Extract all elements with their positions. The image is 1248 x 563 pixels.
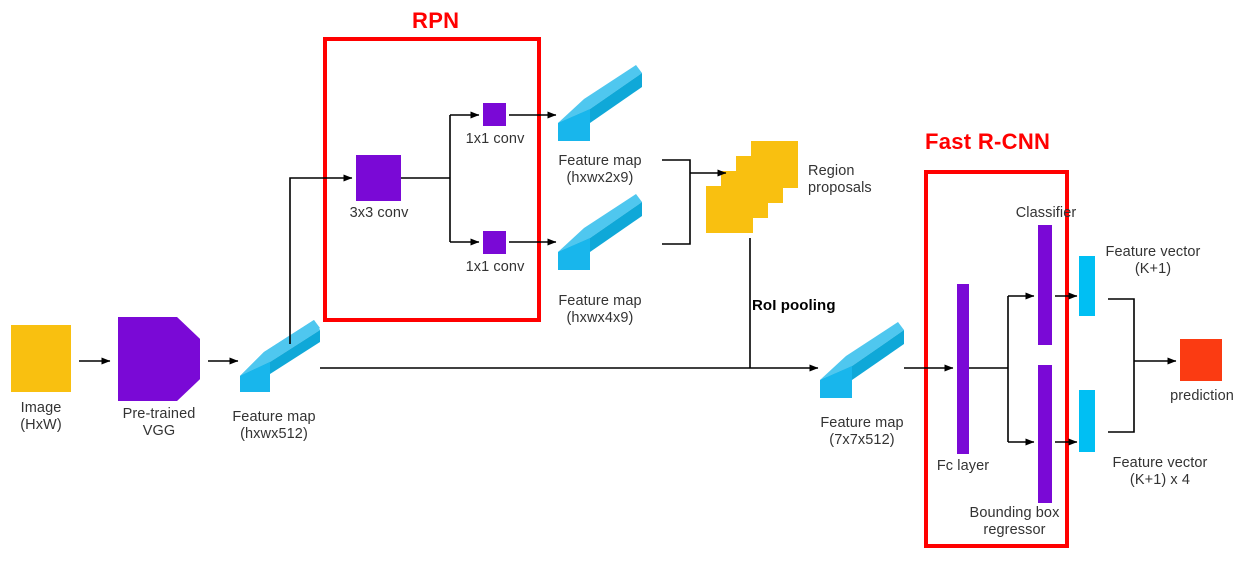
region-proposals-sublabel: proposals [808, 180, 908, 197]
proposal-square [706, 186, 753, 233]
fv-cls-label: Feature vector [1098, 244, 1208, 261]
region-proposals-label: Region [808, 163, 908, 180]
bracket-output-merge [1108, 299, 1134, 432]
fast-rcnn-group-title: Fast R-CNN [925, 129, 1050, 155]
fm-backbone-sublabel: (hxwx512) [218, 426, 330, 443]
cuboid-shape [240, 320, 320, 400]
classifier-node[interactable] [1038, 225, 1052, 345]
fm-backbone-label: Feature map [218, 409, 330, 426]
cuboid-shape [558, 65, 642, 147]
fm-roi-label: Feature map [806, 415, 918, 432]
image-sublabel: (HxW) [0, 417, 82, 434]
cuboid-shape [558, 194, 642, 276]
region-proposals-node[interactable] [706, 141, 798, 237]
fc-layer-label: Fc layer [921, 458, 1005, 475]
feature-map-roi-node[interactable] [820, 322, 904, 404]
fm-cls-sublabel: (hxwx2x9) [541, 170, 659, 187]
classifier-label: Classifier [1000, 205, 1092, 222]
fv-reg-sublabel: (K+1) x 4 [1104, 472, 1216, 489]
bbox-regressor-node[interactable] [1038, 365, 1052, 503]
feature-map-cls-node[interactable] [558, 65, 642, 147]
conv3x3-label: 3x3 conv [337, 205, 421, 222]
roi-pooling-label: RoI pooling [752, 297, 892, 314]
fv-reg-label: Feature vector [1104, 455, 1216, 472]
cuboid-shape [820, 322, 904, 404]
bbox-regressor-sublabel: regressor [962, 522, 1067, 539]
prediction-label: prediction [1152, 388, 1248, 405]
feature-map-backbone-node[interactable] [240, 320, 320, 400]
fm-cls-label: Feature map [541, 153, 659, 170]
fm-reg-label: Feature map [541, 293, 659, 310]
image-label: Image [0, 400, 82, 417]
image-node[interactable] [11, 325, 71, 392]
conv1x1-cls-label: 1x1 conv [455, 131, 535, 148]
conv1x1-cls-node[interactable] [483, 103, 506, 126]
feature-vector-cls-node[interactable] [1079, 256, 1095, 316]
diagram-canvas: RPN Fast R-CNN Image (HxW) Pre-trained V… [0, 0, 1248, 563]
fv-cls-sublabel: (K+1) [1098, 261, 1208, 278]
vgg-sublabel: VGG [108, 423, 210, 440]
conv1x1-reg-node[interactable] [483, 231, 506, 254]
fc-layer-node[interactable] [957, 284, 969, 454]
conv3x3-node[interactable] [356, 155, 401, 201]
vgg-label: Pre-trained [108, 406, 210, 423]
conv1x1-reg-label: 1x1 conv [455, 259, 535, 276]
feature-map-reg-node[interactable] [558, 194, 642, 276]
bbox-regressor-label: Bounding box [962, 505, 1067, 522]
vgg-node[interactable] [118, 317, 200, 401]
bracket-rpn-merge [662, 160, 690, 244]
prediction-node[interactable] [1180, 339, 1222, 381]
fm-roi-sublabel: (7x7x512) [806, 432, 918, 449]
rpn-group-title: RPN [412, 8, 459, 34]
fm-reg-sublabel: (hxwx4x9) [541, 310, 659, 327]
feature-vector-reg-node[interactable] [1079, 390, 1095, 452]
